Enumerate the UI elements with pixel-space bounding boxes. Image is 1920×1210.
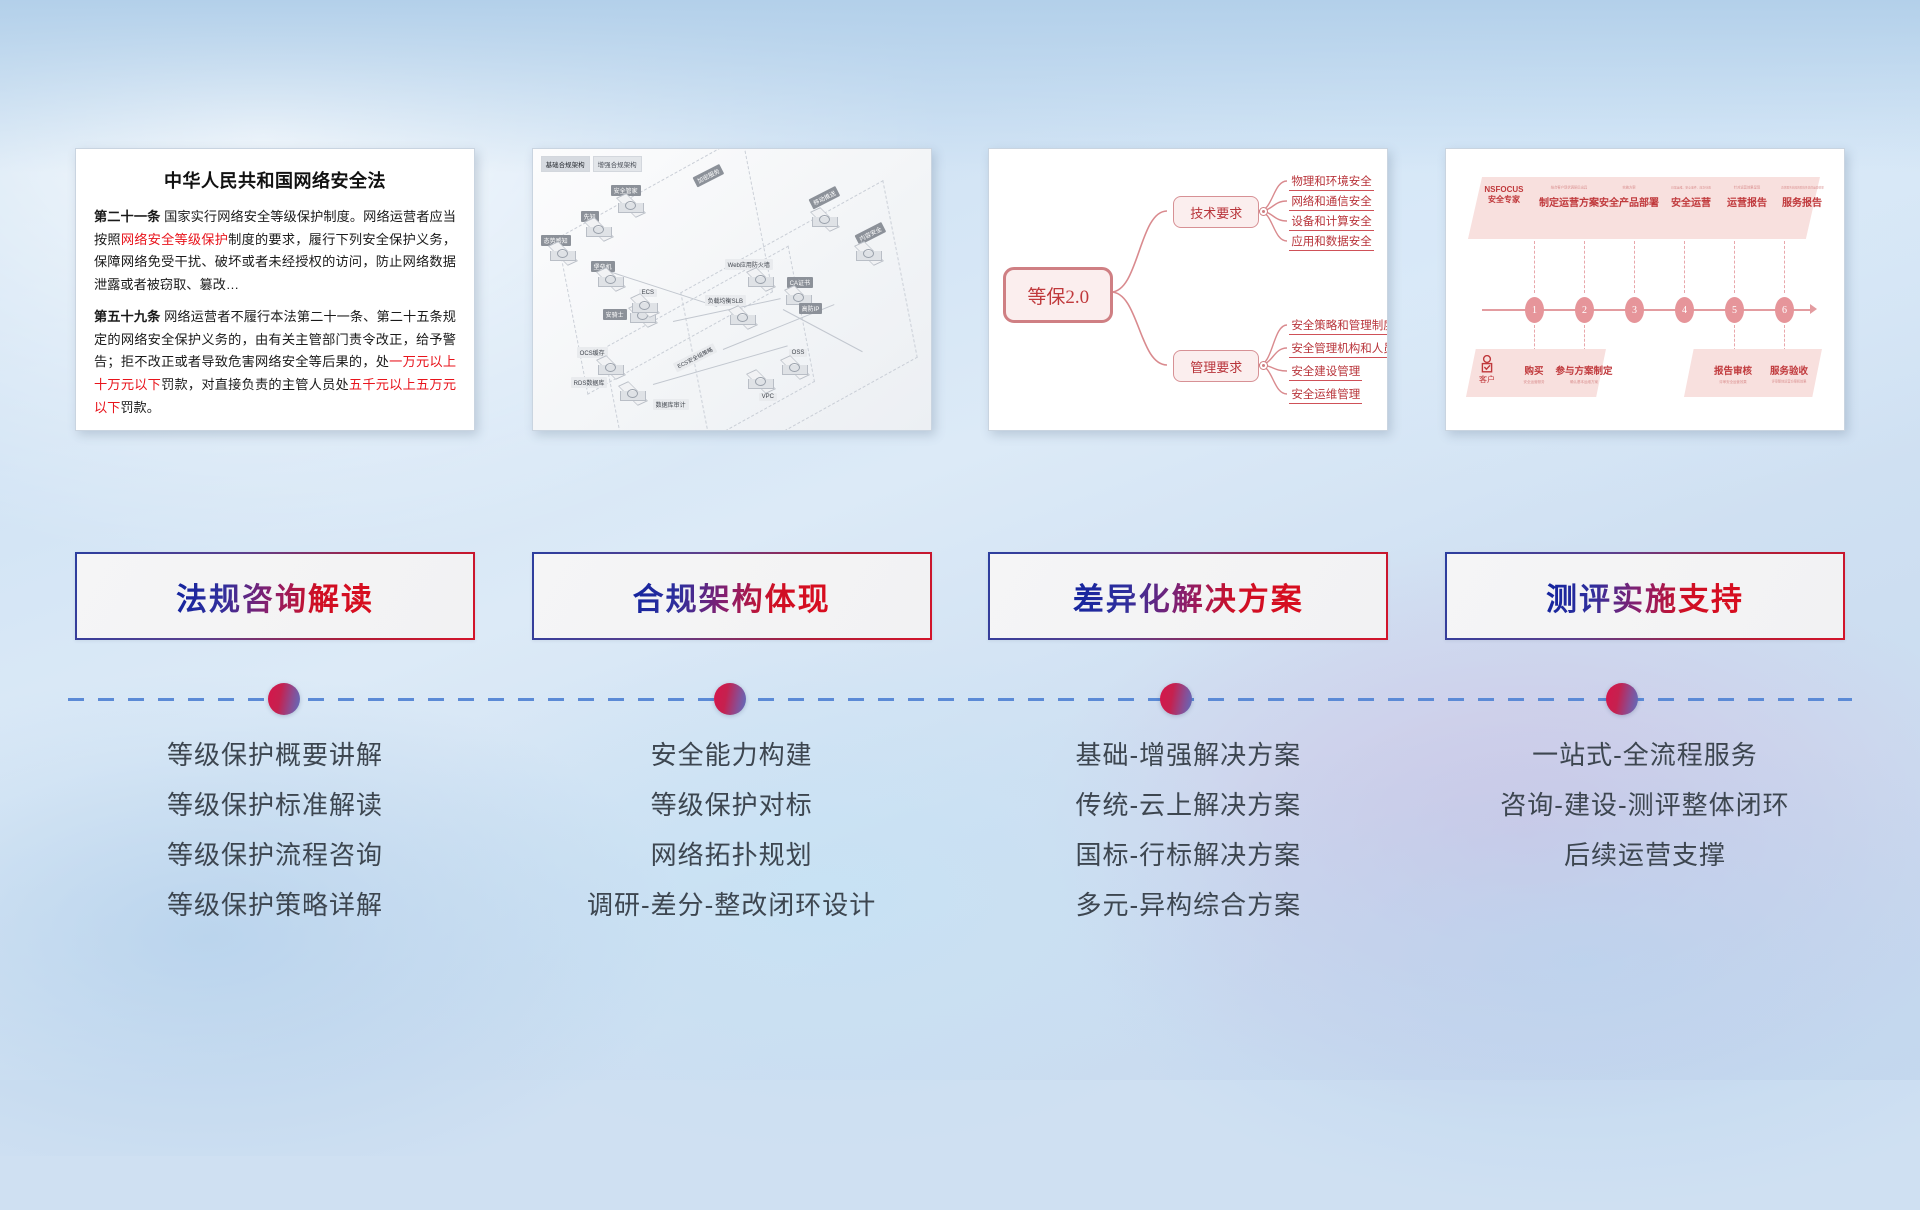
law-article-59-text-c: 罚款。 bbox=[120, 400, 160, 415]
timeline-dot-1[interactable] bbox=[268, 683, 300, 715]
list-item: 等级保护对标 bbox=[532, 792, 932, 818]
law-article-21-highlight: 网络安全等级保护 bbox=[121, 232, 228, 247]
bullet-column-1: 等级保护概要讲解 等级保护标准解读 等级保护流程咨询 等级保护策略详解 bbox=[75, 742, 475, 942]
nsfocus-connector-3 bbox=[1634, 241, 1635, 293]
thumbnail-cards-row: 中华人民共和国网络安全法 第二十一条 国家实行网络安全等级保护制度。网络运营者应… bbox=[0, 148, 1920, 438]
nsfocus-upper-step-2-title: 安全产品部署 bbox=[1596, 194, 1662, 209]
nsfocus-lower-step-4: 服务验收 评审整体运营方案和效果 bbox=[1758, 363, 1820, 385]
timeline-track bbox=[68, 697, 1852, 701]
architecture-tab-enhanced[interactable]: 增强合规架构 bbox=[593, 156, 642, 172]
card-compliance-architecture[interactable]: 基础合规架构 增强合规架构 态势感知 先知 安全管家 加密服务 堡垒机 bbox=[532, 148, 932, 431]
card-nsfocus-process[interactable]: NSFOCUS 安全专家 结合客户现状调研后出具 制定运营方案 实施方案 安全产… bbox=[1445, 148, 1845, 431]
nsfocus-upper-step-1-title: 制定运营方案 bbox=[1536, 194, 1602, 209]
law-article-59: 第五十九条 网络运营者不履行本法第二十一条、第二十五条规定的网络安全保护义务的，… bbox=[94, 306, 456, 420]
nsfocus-lower-step-3: 报告审核 评审安全运营效果 bbox=[1704, 363, 1762, 385]
arch-node-label-waf: Web应用防火墙 bbox=[725, 259, 773, 270]
nsfocus-step-number-2: 2 bbox=[1575, 297, 1594, 323]
nsfocus-brand: NSFOCUS bbox=[1484, 185, 1523, 194]
nsfocus-connector-2 bbox=[1584, 241, 1585, 293]
law-article-21-label: 第二十一条 bbox=[94, 209, 160, 224]
headline-label-4: 测评实施支持 bbox=[1546, 574, 1744, 619]
arch-node-label-vpc: VPC bbox=[759, 393, 777, 401]
arch-node-label-slb: 负载均衡SLB bbox=[705, 295, 746, 306]
nsfocus-lower-step-4-title: 服务验收 bbox=[1758, 363, 1820, 377]
list-item: 网络拓扑规划 bbox=[532, 842, 932, 868]
mindmap-leaf-network-comm: 网络和通信安全 bbox=[1289, 193, 1374, 211]
card-mindmap-dengbao[interactable]: 等保2.0 技术要求 物理和环境安全 网络和通信安全 设备和计算安全 应用和数据… bbox=[988, 148, 1388, 431]
nsfocus-upper-step-5: 总体服务范围的阶段性总体运营效果 服务报告 bbox=[1766, 185, 1838, 209]
nsfocus-customer-icon: 客户 bbox=[1472, 355, 1502, 385]
bullet-columns-row: 等级保护概要讲解 等级保护标准解读 等级保护流程咨询 等级保护策略详解 安全能力… bbox=[0, 742, 1920, 942]
mindmap-leaf-construction-mgmt: 安全建设管理 bbox=[1289, 363, 1362, 381]
nsfocus-upper-step-5-title: 服务报告 bbox=[1766, 194, 1838, 209]
nsfocus-connector-lower-1 bbox=[1534, 325, 1535, 351]
nsfocus-connector-lower-2 bbox=[1584, 325, 1585, 351]
mindmap-root-node[interactable]: 等保2.0 bbox=[1003, 267, 1113, 323]
list-item: 多元-异构综合方案 bbox=[988, 892, 1388, 918]
architecture-tabs[interactable]: 基础合规架构 增强合规架构 bbox=[541, 156, 642, 172]
list-item: 后续运营支撑 bbox=[1445, 842, 1845, 868]
nsfocus-expert-label: NSFOCUS 安全专家 bbox=[1476, 185, 1532, 205]
nsfocus-upper-step-4-sub: 针对运营效果呈现 bbox=[1723, 186, 1771, 190]
nsfocus-lower-step-2-sub: 确认基本运维方案 bbox=[1558, 380, 1609, 385]
arch-node-label-anqishi: 安骑士 bbox=[603, 309, 627, 320]
list-item: 安全能力构建 bbox=[532, 742, 932, 768]
headline-boxes-row: 法规咨询解读 合规架构体现 差异化解决方案 测评实施支持 bbox=[0, 552, 1920, 652]
nsfocus-connector-4 bbox=[1684, 241, 1685, 293]
card-cybersecurity-law[interactable]: 中华人民共和国网络安全法 第二十一条 国家实行网络安全等级保护制度。网络运营者应… bbox=[75, 148, 475, 431]
nsfocus-connector-lower-4 bbox=[1784, 325, 1785, 351]
list-item: 等级保护策略详解 bbox=[75, 892, 475, 918]
nsfocus-customer-label: 客户 bbox=[1472, 374, 1502, 385]
nsfocus-step-number-6: 6 bbox=[1775, 297, 1794, 323]
bullet-column-2: 安全能力构建 等级保护对标 网络拓扑规划 调研-差分-整改闭环设计 bbox=[532, 742, 932, 942]
list-item: 等级保护流程咨询 bbox=[75, 842, 475, 868]
arch-node-label-rds-database: RDS数据库 bbox=[571, 377, 608, 388]
nsfocus-lower-step-3-sub: 评审安全运营效果 bbox=[1710, 380, 1755, 385]
nsfocus-connector-6 bbox=[1784, 241, 1785, 293]
nsfocus-lower-step-2-title: 参与方案制定 bbox=[1552, 363, 1616, 377]
nsfocus-connector-1 bbox=[1534, 241, 1535, 293]
nsfocus-axis-arrow bbox=[1810, 304, 1817, 314]
nsfocus-lower-step-1-sub: 安全运营服务 bbox=[1513, 380, 1555, 385]
nsfocus-step-number-1: 1 bbox=[1525, 297, 1544, 323]
list-item: 传统-云上解决方案 bbox=[988, 792, 1388, 818]
list-item: 调研-差分-整改闭环设计 bbox=[532, 892, 932, 918]
mindmap-leaf-org-personnel: 安全管理机构和人员 bbox=[1289, 340, 1388, 358]
headline-label-3: 差异化解决方案 bbox=[1073, 574, 1304, 619]
mindmap-leaf-ops-mgmt: 安全运维管理 bbox=[1289, 386, 1362, 404]
nsfocus-step-number-3: 3 bbox=[1625, 297, 1644, 323]
nsfocus-step-number-4: 4 bbox=[1675, 297, 1694, 323]
headline-box-3[interactable]: 差异化解决方案 bbox=[988, 552, 1388, 640]
list-item: 等级保护概要讲解 bbox=[75, 742, 475, 768]
nsfocus-upper-step-2-sub: 实施方案 bbox=[1605, 186, 1653, 190]
law-title: 中华人民共和国网络安全法 bbox=[94, 167, 456, 193]
headline-label-2: 合规架构体现 bbox=[633, 574, 831, 619]
headline-box-1[interactable]: 法规咨询解读 bbox=[75, 552, 475, 640]
list-item: 咨询-建设-测评整体闭环 bbox=[1445, 792, 1845, 818]
nsfocus-upper-step-1: 结合客户现状调研后出具 制定运营方案 bbox=[1536, 185, 1602, 209]
arch-node-label-db-audit: 数据库审计 bbox=[653, 399, 689, 410]
nsfocus-upper-step-5-sub: 总体服务范围的阶段性总体运营效果 bbox=[1781, 186, 1823, 189]
nsfocus-upper-step-3-sub: 日常运维、安全事件、应急处置 bbox=[1671, 186, 1712, 190]
nsfocus-connector-lower-3 bbox=[1734, 325, 1735, 351]
list-item: 一站式-全流程服务 bbox=[1445, 742, 1845, 768]
headline-box-2[interactable]: 合规架构体现 bbox=[532, 552, 932, 640]
list-item: 等级保护标准解读 bbox=[75, 792, 475, 818]
timeline-dot-2[interactable] bbox=[714, 683, 746, 715]
law-article-59-text-b: 罚款，对直接负责的主管人员处 bbox=[161, 377, 349, 392]
nsfocus-lower-step-4-sub: 评审整体运营方案和效果 bbox=[1767, 380, 1812, 384]
nsfocus-upper-step-2: 实施方案 安全产品部署 bbox=[1596, 185, 1662, 209]
timeline-dot-3[interactable] bbox=[1160, 683, 1192, 715]
bullet-column-3: 基础-增强解决方案 传统-云上解决方案 国标-行标解决方案 多元-异构综合方案 bbox=[988, 742, 1388, 942]
law-article-21: 第二十一条 国家实行网络安全等级保护制度。网络运营者应当按照网络安全等级保护制度… bbox=[94, 206, 456, 297]
timeline-dot-4[interactable] bbox=[1606, 683, 1638, 715]
nsfocus-lower-step-3-title: 报告审核 bbox=[1704, 363, 1762, 377]
headline-label-1: 法规咨询解读 bbox=[176, 574, 374, 619]
law-article-59-label: 第五十九条 bbox=[94, 309, 160, 324]
arch-node-label-anti-ddos-ip: 高防IP bbox=[799, 303, 823, 314]
nsfocus-lower-step-2: 参与方案制定 确认基本运维方案 bbox=[1552, 363, 1616, 385]
mindmap-leaf-physical-env: 物理和环境安全 bbox=[1289, 173, 1374, 191]
mindmap-branch-technical[interactable]: 技术要求 bbox=[1173, 196, 1259, 228]
list-item: 基础-增强解决方案 bbox=[988, 742, 1388, 768]
architecture-tab-basic[interactable]: 基础合规架构 bbox=[541, 156, 590, 172]
list-item: 国标-行标解决方案 bbox=[988, 842, 1388, 868]
mindmap-leaf-device-compute: 设备和计算安全 bbox=[1289, 213, 1374, 231]
nsfocus-step-number-5: 5 bbox=[1725, 297, 1744, 323]
nsfocus-role: 安全专家 bbox=[1488, 195, 1520, 204]
headline-box-4[interactable]: 测评实施支持 bbox=[1445, 552, 1845, 640]
mindmap-leaf-policy-system: 安全策略和管理制度 bbox=[1289, 317, 1388, 335]
bullet-column-4: 一站式-全流程服务 咨询-建设-测评整体闭环 后续运营支撑 bbox=[1445, 742, 1845, 942]
mindmap-leaf-app-data: 应用和数据安全 bbox=[1289, 233, 1374, 251]
mindmap-branch-management[interactable]: 管理要求 bbox=[1173, 350, 1259, 382]
nsfocus-connector-5 bbox=[1734, 241, 1735, 293]
nsfocus-upper-step-1-sub: 结合客户现状调研后出具 bbox=[1545, 186, 1593, 190]
